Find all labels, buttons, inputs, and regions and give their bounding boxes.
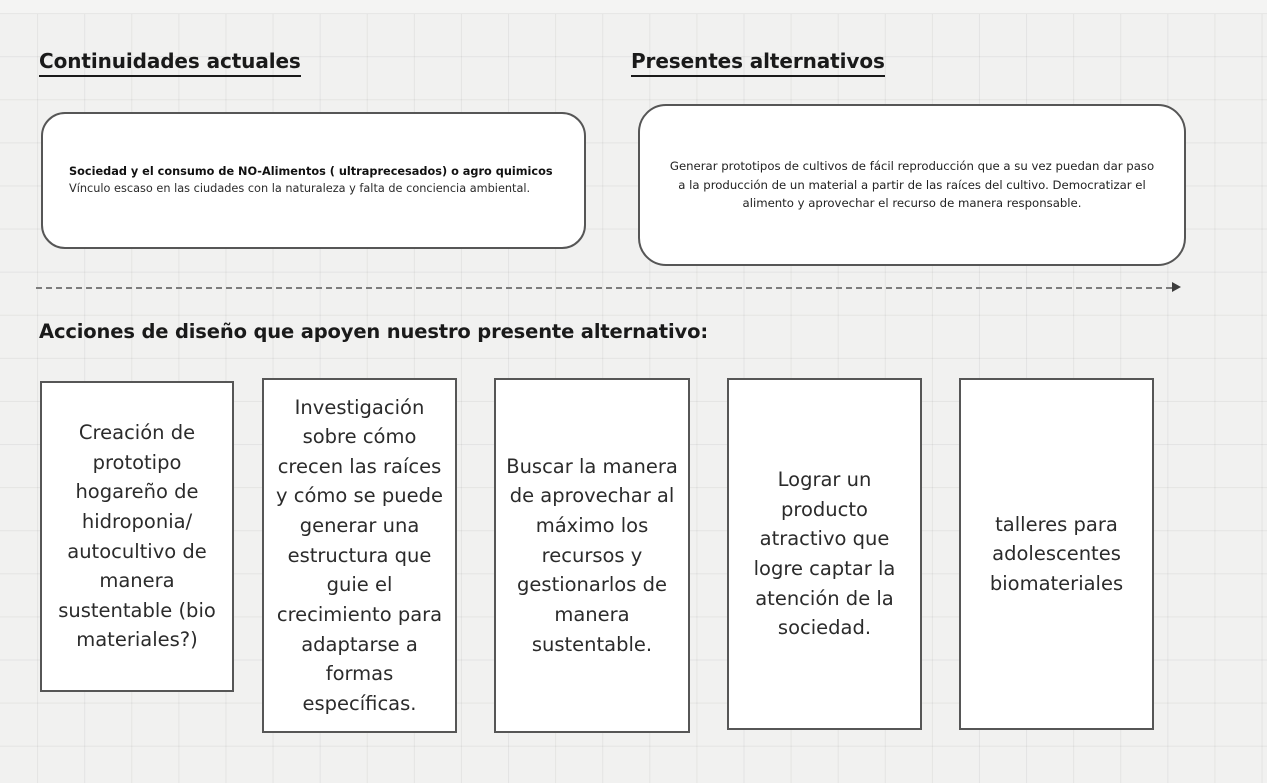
card-continuidades-actuales[interactable]: Sociedad y el consumo de NO-Alimentos ( … (41, 112, 586, 249)
note-card-text: Creación de prototipo hogareño de hidrop… (50, 418, 224, 655)
card-presentes-alternativos[interactable]: Generar prototipos de cultivos de fácil … (638, 104, 1186, 266)
dashed-line (36, 287, 1172, 289)
note-card-text: Buscar la manera de aprovechar al máximo… (504, 452, 680, 659)
note-card[interactable]: Creación de prototipo hogareño de hidrop… (40, 381, 234, 692)
note-card[interactable]: Lograr un producto atractivo que logre c… (727, 378, 922, 730)
card-continuidades-subtitle: Vínculo escaso en las ciudades con la na… (69, 181, 558, 197)
canvas-top-band (0, 0, 1267, 14)
card-presentes-body: Generar prototipos de cultivos de fácil … (666, 157, 1158, 212)
note-card-text: talleres para adolescentes biomateriales (969, 510, 1144, 599)
section-title-acciones-de-diseno[interactable]: Acciones de diseño que apoyen nuestro pr… (39, 320, 708, 343)
dashed-divider-arrow[interactable] (36, 282, 1181, 294)
column-heading-continuidades[interactable]: Continuidades actuales (39, 49, 301, 77)
note-card-text: Lograr un producto atractivo que logre c… (737, 465, 912, 643)
note-card-text: Investigación sobre cómo crecen las raíc… (272, 393, 447, 719)
card-continuidades-title: Sociedad y el consumo de NO-Alimentos ( … (69, 164, 558, 180)
column-heading-presentes[interactable]: Presentes alternativos (631, 49, 885, 77)
note-card[interactable]: Buscar la manera de aprovechar al máximo… (494, 378, 690, 733)
note-card[interactable]: Investigación sobre cómo crecen las raíc… (262, 378, 457, 733)
arrow-right-icon (1172, 282, 1181, 292)
note-card[interactable]: talleres para adolescentes biomateriales (959, 378, 1154, 730)
whiteboard-canvas[interactable]: Continuidades actuales Presentes alterna… (0, 0, 1267, 783)
